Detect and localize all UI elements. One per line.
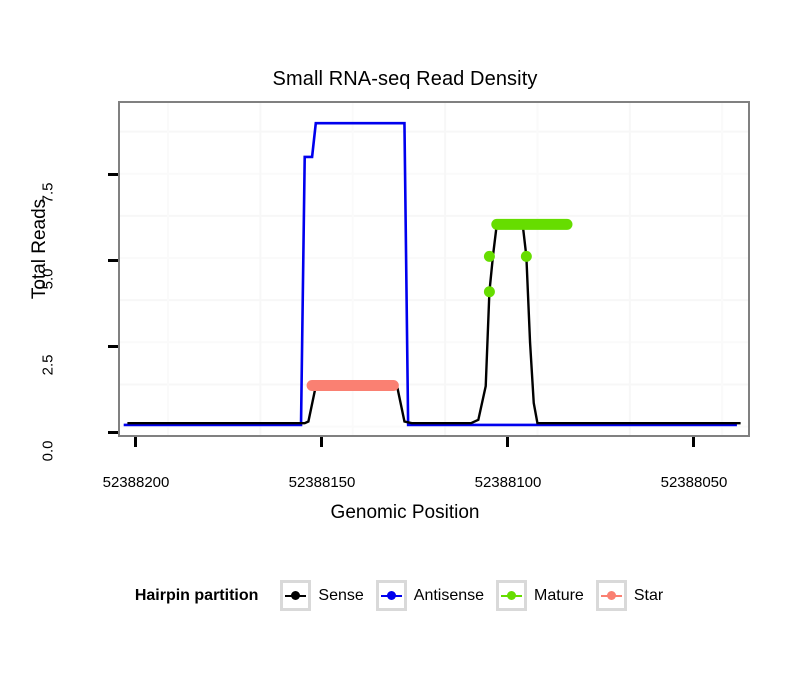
legend-entry-star[interactable]: Star: [596, 580, 663, 611]
x-tick-label: 52388150: [252, 474, 392, 491]
x-tick-mark: [692, 437, 695, 447]
plot-panel: [118, 101, 750, 437]
legend-entry-sense[interactable]: Sense: [280, 580, 363, 611]
x-tick-mark: [134, 437, 137, 447]
legend-key-dot: [507, 591, 516, 600]
legend-key-dot: [291, 591, 300, 600]
legend-key-star-icon: [596, 580, 627, 611]
x-tick-label: 52388100: [438, 474, 578, 491]
legend-label: Antisense: [414, 587, 484, 605]
legend-key-dot: [607, 591, 616, 600]
plot-area: [120, 103, 748, 435]
legend-key-sense-icon: [280, 580, 311, 611]
legend-title: Hairpin partition: [135, 587, 259, 605]
legend-key-antisense-icon: [376, 580, 407, 611]
legend-label: Sense: [318, 587, 363, 605]
x-tick-mark: [506, 437, 509, 447]
legend: Hairpin partition SenseAntisenseMatureSt…: [0, 580, 810, 611]
legend-key-mature-icon: [496, 580, 527, 611]
legend-entries: SenseAntisenseMatureStar: [280, 580, 675, 611]
x-tick-label: 52388200: [66, 474, 206, 491]
legend-label: Mature: [534, 587, 584, 605]
x-tick-mark: [320, 437, 323, 447]
legend-label: Star: [634, 587, 663, 605]
legend-key-dot: [387, 591, 396, 600]
chart-figure: Small RNA-seq Read Density Total Reads G…: [0, 0, 810, 690]
legend-entry-mature[interactable]: Mature: [496, 580, 584, 611]
legend-entry-antisense[interactable]: Antisense: [376, 580, 484, 611]
x-tick-label: 52388050: [624, 474, 764, 491]
